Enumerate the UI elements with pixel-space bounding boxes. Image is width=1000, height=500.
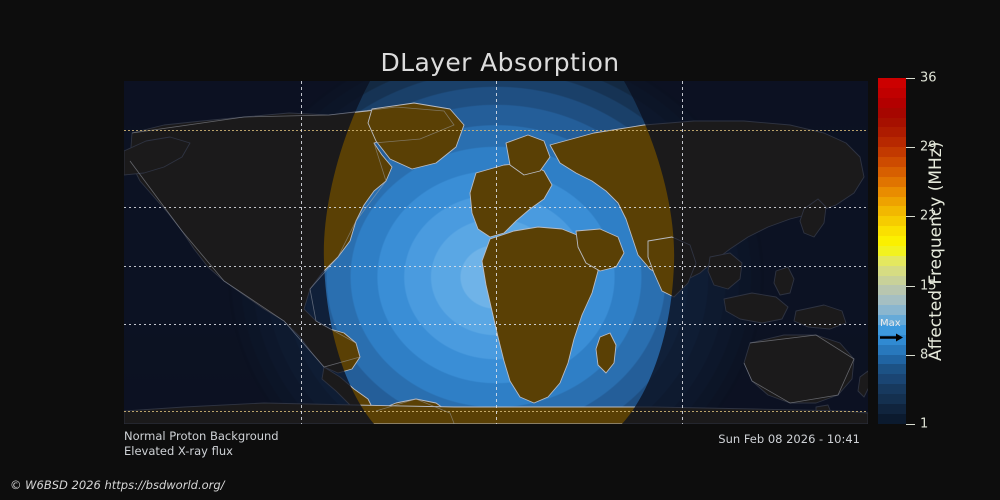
colorbar-segment	[878, 157, 906, 167]
colorbar-segment	[878, 147, 906, 157]
colorbar-segment	[878, 226, 906, 236]
colorbar-tick	[906, 216, 915, 217]
colorbar-axis-label: Affected Frequency (MHz)	[921, 76, 951, 426]
colorbar-segment	[878, 256, 906, 266]
colorbar-segment	[878, 276, 906, 286]
colorbar-segment	[878, 394, 906, 404]
colorbar-segment	[878, 137, 906, 147]
graticule-lon-0	[496, 81, 497, 424]
colorbar-segment	[878, 118, 906, 128]
colorbar-segment	[878, 236, 906, 246]
colorbar-segment	[878, 88, 906, 98]
colorbar-segment	[878, 384, 906, 394]
colorbar-segment	[878, 355, 906, 365]
colorbar-segment	[878, 197, 906, 207]
colorbar-segment	[878, 98, 906, 108]
colorbar[interactable]	[878, 78, 906, 424]
arrow-right-icon	[880, 333, 904, 342]
colorbar-tick	[906, 78, 915, 79]
colorbar-tick	[906, 286, 915, 287]
xray-status-text: Elevated X-ray flux	[124, 444, 279, 459]
timestamp-text: Sun Feb 08 2026 - 10:41	[718, 432, 860, 446]
colorbar-segment	[878, 78, 906, 88]
proton-status-text: Normal Proton Background	[124, 429, 279, 444]
colorbar-segment	[878, 305, 906, 315]
colorbar-segment	[878, 266, 906, 276]
colorbar-segment	[878, 216, 906, 226]
status-captions: Normal Proton Background Elevated X-ray …	[124, 429, 279, 459]
colorbar-segment	[878, 345, 906, 355]
figure-root: DLayer Absorption	[0, 0, 1000, 500]
colorbar-max-marker: Max	[879, 320, 905, 346]
copyright-text: © W6BSD 2026 https://bsdworld.org/	[10, 478, 225, 492]
colorbar-segment	[878, 246, 906, 256]
colorbar-segment	[878, 127, 906, 137]
colorbar-segment	[878, 295, 906, 305]
colorbar-segment	[878, 414, 906, 424]
colorbar-segment	[878, 364, 906, 374]
max-marker-label: Max	[880, 318, 901, 329]
graticule-lon-90e	[682, 81, 683, 424]
colorbar-segment	[878, 187, 906, 197]
colorbar-segment	[878, 404, 906, 414]
colorbar-segment	[878, 285, 906, 295]
colorbar-segment	[878, 177, 906, 187]
graticule-lon-90w	[301, 81, 302, 424]
colorbar-segment	[878, 374, 906, 384]
colorbar-tick	[906, 355, 915, 356]
page-title: DLayer Absorption	[0, 48, 1000, 77]
colorbar-segment	[878, 206, 906, 216]
colorbar-segment	[878, 167, 906, 177]
world-map[interactable]	[124, 81, 868, 424]
colorbar-tick	[906, 147, 915, 148]
colorbar-segment	[878, 108, 906, 118]
colorbar-tick	[906, 424, 915, 425]
